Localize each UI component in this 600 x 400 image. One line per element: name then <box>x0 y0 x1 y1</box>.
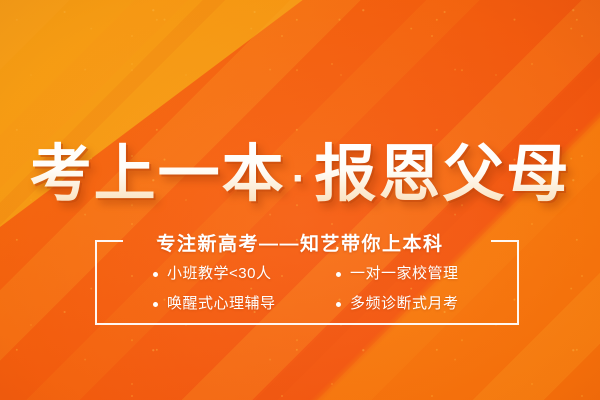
bullet-icon <box>153 272 158 277</box>
subtitle: 专注新高考——知艺带你上本科 <box>0 229 600 256</box>
feature-label: 唤醒式心理辅导 <box>167 292 276 316</box>
promo-banner: 考上一本·报恩父母 专注新高考——知艺带你上本科 小班教学<30人 一对一家校管… <box>0 0 600 400</box>
feature-list: 小班教学<30人 一对一家校管理 唤醒式心理辅导 多频诊断式月考 <box>95 262 519 316</box>
feature-label: 小班教学<30人 <box>167 262 271 286</box>
headline-separator-dot: · <box>286 154 315 203</box>
feature-item: 多频诊断式月考 <box>336 292 519 316</box>
feature-label: 一对一家校管理 <box>350 262 459 286</box>
feature-label: 多频诊断式月考 <box>350 292 459 316</box>
headline: 考上一本·报恩父母 <box>0 140 600 214</box>
feature-item: 小班教学<30人 <box>153 262 336 286</box>
bullet-icon <box>336 302 341 307</box>
feature-item: 唤醒式心理辅导 <box>153 292 336 316</box>
feature-item: 一对一家校管理 <box>336 262 519 286</box>
banner-content: 考上一本·报恩父母 专注新高考——知艺带你上本科 小班教学<30人 一对一家校管… <box>0 0 600 400</box>
headline-right-phrase: 报恩父母 <box>314 140 570 209</box>
bullet-icon <box>336 272 341 277</box>
headline-left-phrase: 考上一本 <box>30 140 286 209</box>
bullet-icon <box>153 302 158 307</box>
